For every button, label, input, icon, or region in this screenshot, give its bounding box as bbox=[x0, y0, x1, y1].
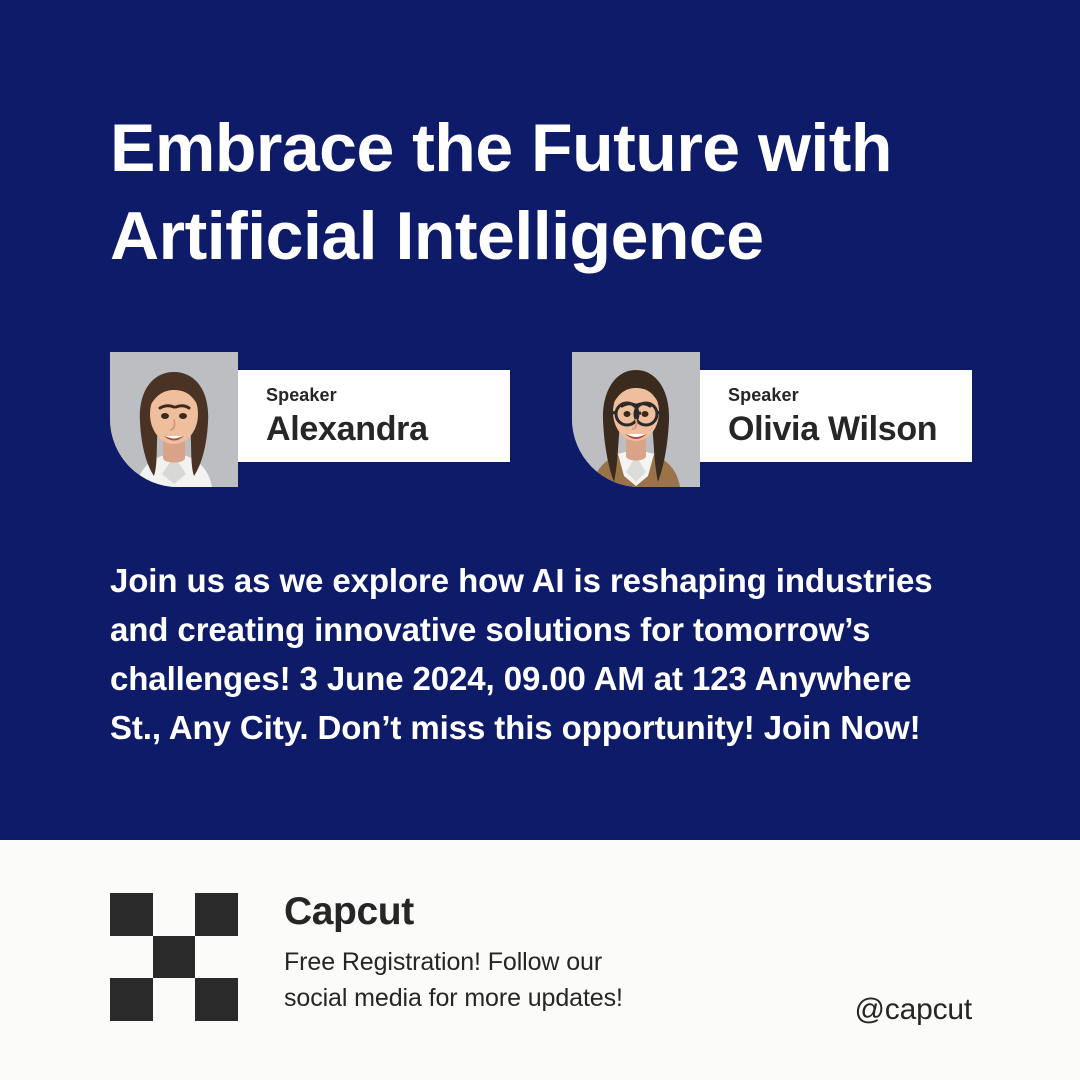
tagline-line-2: social media for more updates! bbox=[284, 980, 623, 1016]
logo-cell-4 bbox=[110, 936, 153, 979]
speaker-role-label: Speaker bbox=[728, 384, 972, 406]
logo-cell-8 bbox=[153, 978, 196, 1021]
body-line-2: and creating innovative solutions for to… bbox=[110, 605, 990, 654]
brand-name: Capcut bbox=[284, 888, 623, 936]
brand-block: Capcut Free Registration! Follow our soc… bbox=[284, 888, 623, 1016]
logo-cell-3 bbox=[195, 893, 238, 936]
speaker-name-plate: Speaker Alexandra bbox=[238, 370, 510, 462]
event-description: Join us as we explore how AI is reshapin… bbox=[110, 556, 990, 752]
hero-section: Embrace the Future with Artificial Intel… bbox=[0, 0, 1080, 840]
logo-cell-6 bbox=[195, 936, 238, 979]
headline-line-1: Embrace the Future with bbox=[110, 104, 1010, 192]
event-poster: Embrace the Future with Artificial Intel… bbox=[0, 0, 1080, 1080]
speaker-card-alexandra: Speaker Alexandra bbox=[110, 352, 510, 488]
checkerboard-logo-icon bbox=[110, 893, 238, 1021]
speaker-name-plate: Speaker Olivia Wilson bbox=[700, 370, 972, 462]
logo-cell-9 bbox=[195, 978, 238, 1021]
social-handle[interactable]: @capcut bbox=[855, 992, 972, 1028]
page-title: Embrace the Future with Artificial Intel… bbox=[110, 104, 1010, 280]
avatar-olivia-wilson bbox=[572, 352, 700, 487]
logo-cell-7 bbox=[110, 978, 153, 1021]
body-line-4: St., Any City. Don’t miss this opportuni… bbox=[110, 703, 990, 752]
body-line-1: Join us as we explore how AI is reshapin… bbox=[110, 556, 990, 605]
speaker-name: Olivia Wilson bbox=[728, 408, 972, 450]
brand-tagline: Free Registration! Follow our social med… bbox=[284, 944, 623, 1016]
headline-line-2: Artificial Intelligence bbox=[110, 192, 1010, 280]
speaker-role-label: Speaker bbox=[266, 384, 510, 406]
speaker-name: Alexandra bbox=[266, 408, 510, 450]
tagline-line-1: Free Registration! Follow our bbox=[284, 944, 623, 980]
avatar-alexandra bbox=[110, 352, 238, 487]
logo-cell-1 bbox=[110, 893, 153, 936]
logo-cell-2 bbox=[153, 893, 196, 936]
footer-section: Capcut Free Registration! Follow our soc… bbox=[0, 840, 1080, 1080]
body-line-3: challenges! 3 June 2024, 09.00 AM at 123… bbox=[110, 654, 990, 703]
logo-cell-5 bbox=[153, 936, 196, 979]
speaker-card-list: Speaker Alexandra bbox=[0, 352, 1080, 492]
speaker-card-olivia-wilson: Speaker Olivia Wilson bbox=[572, 352, 972, 488]
